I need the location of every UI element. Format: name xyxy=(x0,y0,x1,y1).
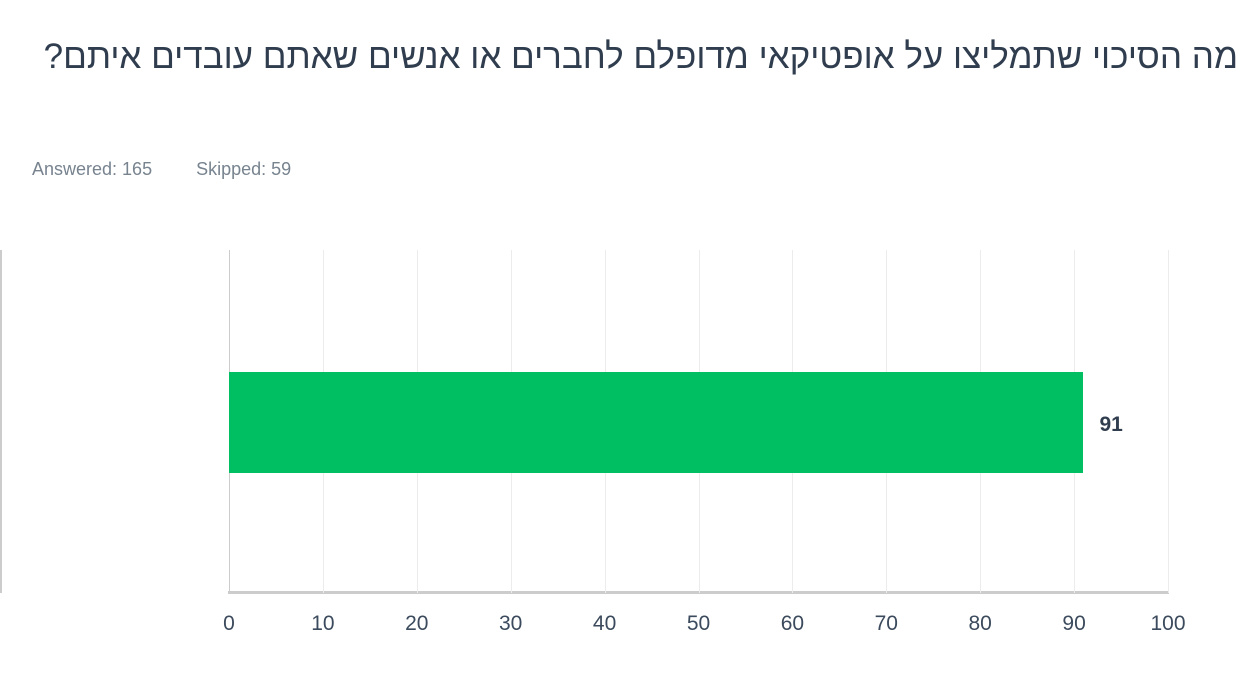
plot-area xyxy=(229,250,1168,593)
bar-chart: 0102030405060708090100 91 xyxy=(0,0,1256,674)
x-tick-label: 70 xyxy=(851,610,921,638)
gridline xyxy=(1168,250,1169,593)
bar-value-label: 91 xyxy=(1099,410,1122,440)
x-tick-label: 20 xyxy=(382,610,452,638)
x-tick-label: 40 xyxy=(570,610,640,638)
x-tick-label: 90 xyxy=(1039,610,1109,638)
y-axis-line xyxy=(0,250,2,593)
bar[interactable] xyxy=(229,372,1083,473)
survey-result-page: מה הסיכוי שתמליצו על אופטיקאי מדופלם לחב… xyxy=(0,0,1256,674)
x-tick-label: 100 xyxy=(1133,610,1203,638)
x-tick-label: 30 xyxy=(476,610,546,638)
x-tick-label: 60 xyxy=(757,610,827,638)
x-tick-label: 0 xyxy=(194,610,264,638)
x-tick-label: 80 xyxy=(945,610,1015,638)
x-tick-label: 10 xyxy=(288,610,358,638)
x-tick-label: 50 xyxy=(664,610,734,638)
